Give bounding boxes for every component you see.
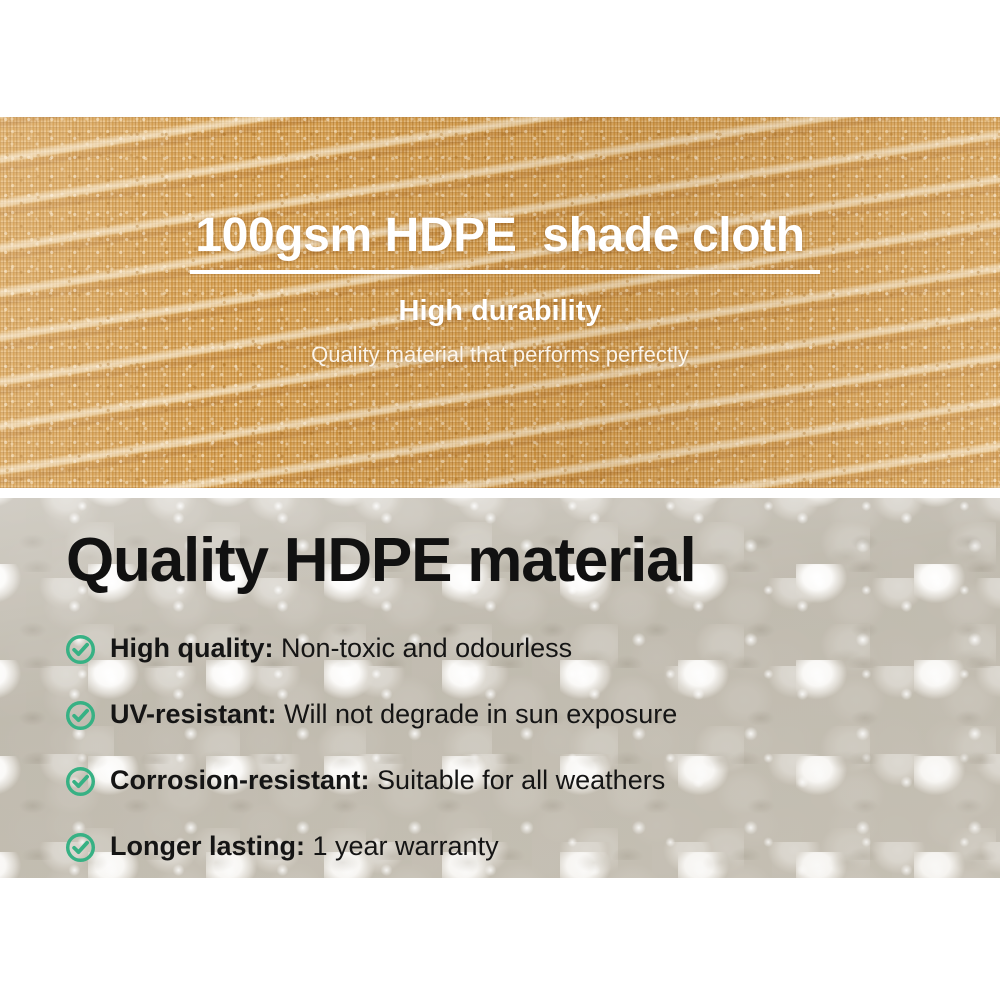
feature-rest: 1 year warranty (305, 831, 499, 861)
shade-cloth-banner: 100gsm HDPE shade cloth High durability … (0, 117, 1000, 488)
feature-rest: Suitable for all weathers (370, 765, 666, 795)
feature-lead: Corrosion-resistant: (110, 765, 370, 795)
hdpe-material-section: Quality HDPE material High quality: Non-… (0, 498, 1000, 878)
feature-item-longer-lasting: Longer lasting: 1 year warranty (64, 814, 964, 878)
banner-tagline: Quality material that performs perfectly (0, 344, 1000, 366)
feature-list: High quality: Non-toxic and odourless UV… (64, 616, 964, 878)
check-circle-icon (64, 633, 97, 666)
feature-text: High quality: Non-toxic and odourless (110, 634, 572, 664)
feature-lead: High quality: (110, 633, 274, 663)
banner-subtitle: High durability (0, 297, 1000, 326)
feature-text: UV-resistant: Will not degrade in sun ex… (110, 700, 677, 730)
check-circle-icon (64, 699, 97, 732)
feature-item-uv-resistant: UV-resistant: Will not degrade in sun ex… (64, 682, 964, 748)
feature-item-high-quality: High quality: Non-toxic and odourless (64, 616, 964, 682)
feature-item-corrosion-resistant: Corrosion-resistant: Suitable for all we… (64, 748, 964, 814)
check-circle-icon (64, 765, 97, 798)
check-circle-icon (64, 831, 97, 864)
material-headline: Quality HDPE material (66, 530, 695, 592)
banner-title: 100gsm HDPE shade cloth (0, 212, 1000, 260)
feature-lead: Longer lasting: (110, 831, 305, 861)
product-banner-page: 100gsm HDPE shade cloth High durability … (0, 0, 1000, 1000)
banner-divider-rule (190, 270, 820, 274)
feature-rest: Will not degrade in sun exposure (277, 699, 678, 729)
feature-text: Corrosion-resistant: Suitable for all we… (110, 766, 665, 796)
feature-lead: UV-resistant: (110, 699, 277, 729)
feature-text: Longer lasting: 1 year warranty (110, 832, 499, 862)
feature-rest: Non-toxic and odourless (274, 633, 573, 663)
